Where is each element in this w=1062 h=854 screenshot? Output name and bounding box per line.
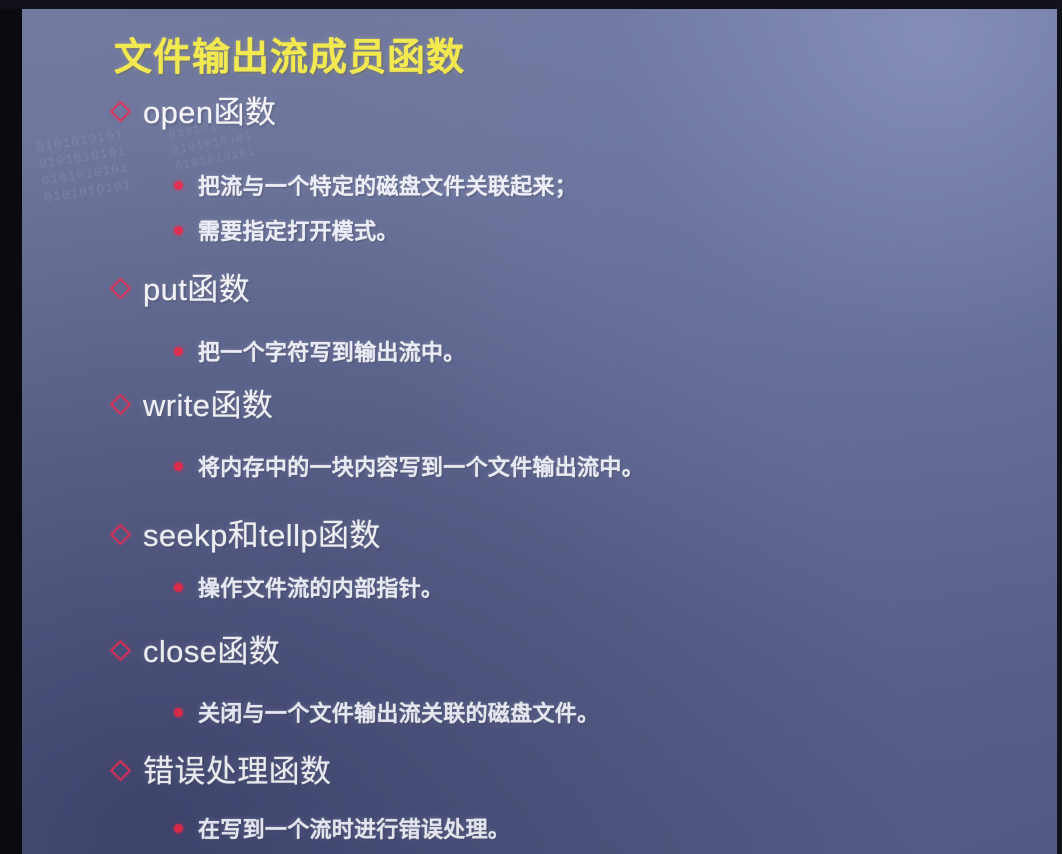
dot-icon (174, 462, 183, 471)
bullet-level2: 关闭与一个文件输出流关联的磁盘文件。 (174, 696, 599, 728)
bullet-level1-error-handling: 错误处理函数 (110, 746, 331, 791)
bullet-level2-label: 将内存中的一块内容写到一个文件输出流中。 (198, 450, 644, 482)
bullet-level2-label: 关闭与一个文件输出流关联的磁盘文件。 (198, 696, 599, 728)
bullet-level1-label: open函数 (143, 87, 276, 132)
diamond-outline-icon (110, 760, 127, 777)
diamond-outline-icon (110, 640, 127, 657)
bullet-level2: 把流与一个特定的磁盘文件关联起来； (174, 169, 577, 201)
dot-icon (174, 226, 183, 235)
bullet-level2: 需要指定打开模式。 (174, 214, 399, 246)
bullet-level1-label: 错误处理函数 (143, 746, 331, 791)
bullet-level1-write: write函数 (110, 380, 273, 425)
diamond-outline-icon (110, 394, 127, 411)
bullet-level2: 操作文件流的内部指针。 (174, 571, 443, 603)
diamond-outline-icon (110, 524, 127, 541)
bullet-level1-close: close函数 (110, 626, 280, 671)
slide-content: 文件输出流成员函数 open函数 把流与一个特定的磁盘文件关联起来； 需要指定打… (22, 9, 1057, 854)
bullet-level2-label: 把流与一个特定的磁盘文件关联起来； (198, 169, 577, 201)
letterbox-right (1057, 0, 1062, 854)
letterbox-top (0, 0, 1062, 9)
diamond-outline-icon (110, 278, 127, 295)
letterbox-left (0, 0, 22, 854)
bullet-level1-label: seekp和tellp函数 (143, 510, 381, 555)
bullet-level2: 在写到一个流时进行错误处理。 (174, 812, 510, 844)
bullet-level2-label: 把一个字符写到输出流中。 (198, 335, 466, 367)
bullet-level1-label: put函数 (143, 264, 250, 309)
bullet-level1-open: open函数 (110, 87, 276, 132)
bullet-level2: 把一个字符写到输出流中。 (174, 335, 466, 367)
bullet-level1-label: write函数 (143, 380, 273, 425)
dot-icon (174, 347, 183, 356)
slide-title: 文件输出流成员函数 (114, 26, 465, 81)
bullet-level2-label: 操作文件流的内部指针。 (198, 571, 443, 603)
diamond-outline-icon (110, 101, 127, 118)
bullet-level2-label: 需要指定打开模式。 (198, 214, 399, 246)
bullet-level1-put: put函数 (110, 264, 250, 309)
bullet-level2-label: 在写到一个流时进行错误处理。 (198, 812, 510, 844)
dot-icon (174, 708, 183, 717)
dot-icon (174, 181, 183, 190)
presentation-slide: 0101010101 0101010101 0101010101 0101010… (0, 0, 1062, 854)
slide-canvas: 0101010101 0101010101 0101010101 0101010… (22, 9, 1057, 854)
bullet-level1-label: close函数 (143, 626, 280, 671)
bullet-level2: 将内存中的一块内容写到一个文件输出流中。 (174, 450, 644, 482)
bullet-level1-seekp-tellp: seekp和tellp函数 (110, 510, 381, 555)
dot-icon (174, 583, 183, 592)
dot-icon (174, 824, 183, 833)
